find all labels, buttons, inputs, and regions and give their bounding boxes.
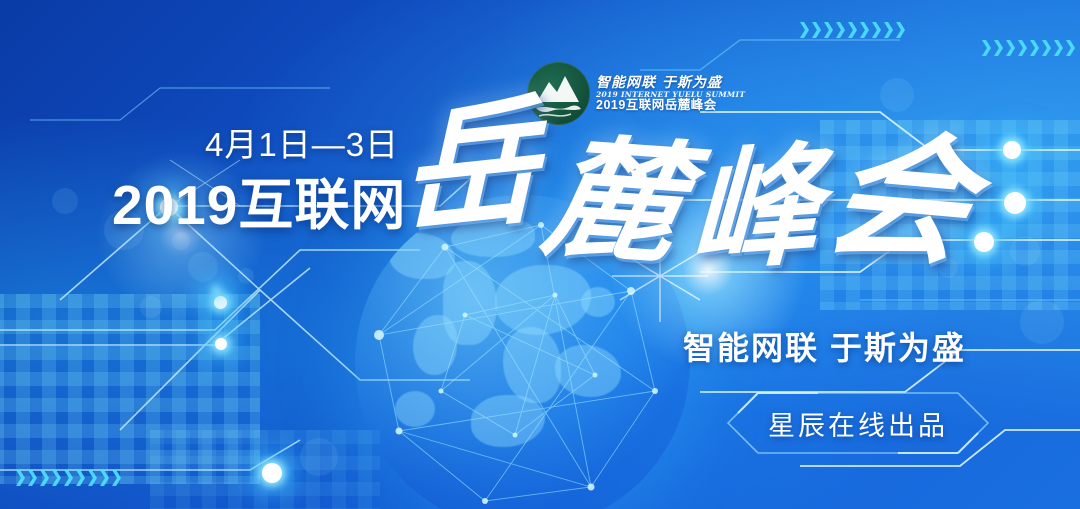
event-banner: 智能网联 于斯为盛 2019 INTERNET YUELU SUMMIT 201… bbox=[0, 0, 1080, 509]
chevron-icon bbox=[800, 22, 809, 38]
chevron-icon bbox=[1054, 40, 1063, 56]
circuit-node bbox=[974, 232, 994, 252]
circuit-node bbox=[214, 296, 227, 309]
chevron-icon bbox=[1066, 40, 1075, 56]
chevron-icon bbox=[860, 22, 869, 38]
bokeh-bubble bbox=[1010, 236, 1040, 266]
producer-text: 星辰在线出品 bbox=[722, 392, 994, 454]
bokeh-bubble bbox=[300, 438, 338, 476]
calligraphy-char-4: 会 bbox=[815, 128, 985, 271]
event-year-title: 2019互联网 bbox=[112, 160, 406, 240]
chevron-icon bbox=[16, 470, 25, 486]
chevron-icon bbox=[112, 470, 121, 486]
chevron-icon bbox=[824, 22, 833, 38]
bokeh-bubble bbox=[1020, 300, 1064, 344]
bokeh-bubble bbox=[140, 296, 162, 318]
calligraphy-char-1: 岳 bbox=[399, 94, 539, 240]
chevron-icon bbox=[872, 22, 881, 38]
chevron-icon bbox=[52, 470, 61, 486]
slogan-text: 智能网联 于斯为盛 bbox=[683, 323, 966, 369]
chevrons-top-left bbox=[800, 22, 905, 38]
producer-frame: 星辰在线出品 bbox=[722, 392, 994, 454]
pixel-mosaic-bottom bbox=[150, 430, 380, 509]
chevron-icon bbox=[100, 470, 109, 486]
chevron-icon bbox=[88, 470, 97, 486]
chevron-icon bbox=[40, 470, 49, 486]
calligraphy-char-2: 麓 bbox=[536, 135, 692, 268]
circuit-node bbox=[1003, 141, 1021, 159]
pixel-mosaic-left bbox=[0, 294, 260, 484]
chevron-icon bbox=[982, 40, 991, 56]
chevron-icon bbox=[1006, 40, 1015, 56]
circuit-node bbox=[1004, 192, 1026, 214]
logo-calligraphy-line: 智能网联 于斯为盛 bbox=[596, 76, 745, 90]
chevron-icon bbox=[812, 22, 821, 38]
bokeh-bubble bbox=[52, 188, 78, 214]
chevron-icon bbox=[64, 470, 73, 486]
chevron-icon bbox=[1042, 40, 1051, 56]
chevron-icon bbox=[896, 22, 905, 38]
bokeh-bubble bbox=[188, 252, 218, 282]
event-date: 4月1日—3日 bbox=[205, 118, 399, 166]
chevron-icon bbox=[1018, 40, 1027, 56]
chevrons-bottom-left bbox=[16, 470, 121, 486]
calligraphy-title: 岳 麓 峰 会 bbox=[400, 95, 970, 310]
circuit-node bbox=[262, 463, 282, 483]
chevron-icon bbox=[836, 22, 845, 38]
chevron-icon bbox=[28, 470, 37, 486]
chevrons-top-right bbox=[982, 40, 1075, 56]
chevron-icon bbox=[884, 22, 893, 38]
chevron-icon bbox=[76, 470, 85, 486]
bokeh-bubble bbox=[238, 268, 254, 284]
chevron-icon bbox=[1030, 40, 1039, 56]
chevron-icon bbox=[994, 40, 1003, 56]
circuit-node bbox=[215, 338, 227, 350]
chevron-icon bbox=[848, 22, 857, 38]
calligraphy-char-3: 峰 bbox=[688, 142, 822, 275]
